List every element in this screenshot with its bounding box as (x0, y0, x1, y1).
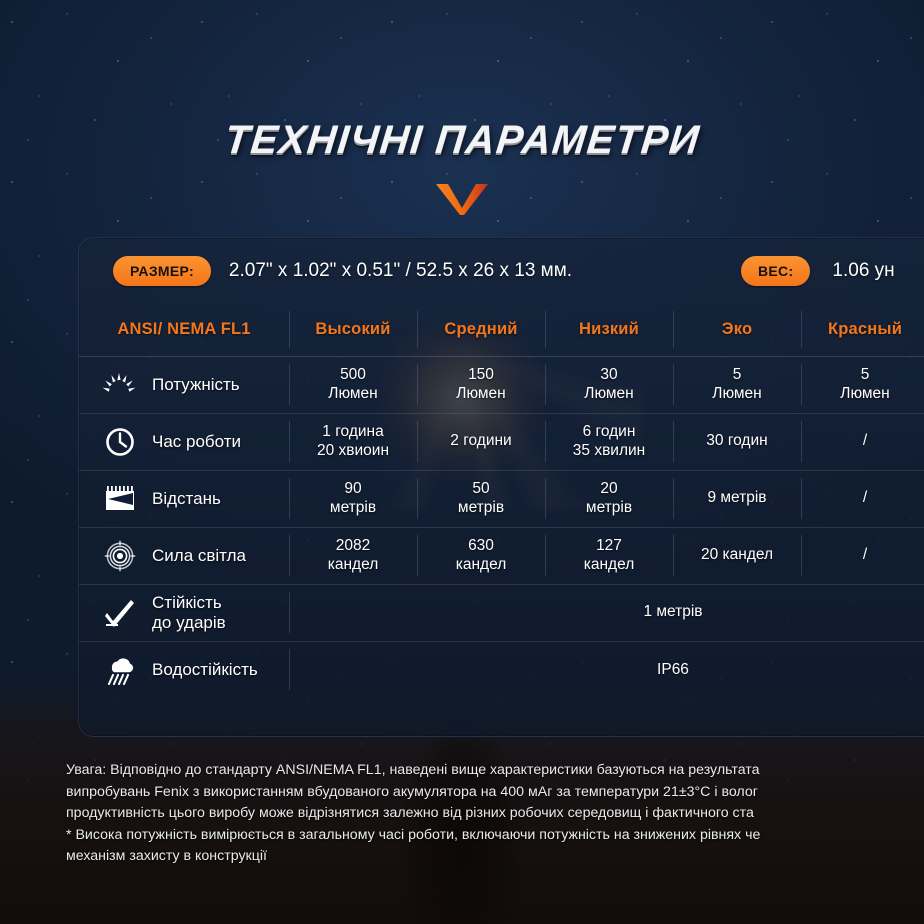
cell-runtime-red: / (801, 413, 924, 470)
col-header-eco: Эко (673, 304, 801, 356)
cell-impact-value: 1 метрів (289, 584, 924, 641)
table-header-row: ANSI/ NEMA FL1 Высокий Средний Низкий Эк… (79, 304, 924, 356)
cell-output-high: 500 Люмен (289, 356, 417, 413)
row-label-impact: Стійкість до ударів (79, 584, 289, 641)
weight-value: 1.06 ун (832, 260, 894, 282)
rain-cloud-icon (101, 652, 139, 688)
summary-row: РАЗМЕР: 2.07" x 1.02" x 0.51" / 52.5 x 2… (79, 238, 924, 304)
table-row: Стійкість до ударів 1 метрів (79, 584, 924, 641)
row-label-waterproof: Водостійкість (79, 641, 289, 698)
row-label-text: Стійкість до ударів (152, 593, 226, 631)
col-header-standard: ANSI/ NEMA FL1 (79, 304, 289, 356)
table-row: Потужність 500 Люмен 150 Люмен 30 Люмен (79, 356, 924, 413)
table-row: Водостійкість IP66 (79, 641, 924, 698)
cell-runtime-medium: 2 години (417, 413, 545, 470)
size-value: 2.07" x 1.02" x 0.51" / 52.5 x 26 x 13 м… (229, 260, 572, 282)
row-label-text: Потужність (152, 375, 240, 394)
sunburst-icon (101, 367, 139, 403)
cell-output-eco: 5 Люмен (673, 356, 801, 413)
beam-distance-icon (101, 481, 139, 517)
clock-icon (101, 424, 139, 460)
table-row: Сила світла 2082 кандел 630 кандел 127 к… (79, 527, 924, 584)
spec-sheet-page: ТЕХНІЧНІ ПАРАМЕТРИ РАЗМЕР: 2.07" x 1.02"… (0, 0, 924, 924)
footnote-text: Увага: Відповідно до стандарту ANSI/NEMA… (66, 760, 924, 868)
row-label-output: Потужність (79, 356, 289, 413)
col-header-medium: Средний (417, 304, 545, 356)
cell-waterproof-value: IP66 (289, 641, 924, 698)
cell-intensity-low: 127 кандел (545, 527, 673, 584)
specs-panel: РАЗМЕР: 2.07" x 1.02" x 0.51" / 52.5 x 2… (78, 237, 924, 737)
row-label-intensity: Сила світла (79, 527, 289, 584)
cell-distance-low: 20 метрів (545, 470, 673, 527)
specs-table-head: ANSI/ NEMA FL1 Высокий Средний Низкий Эк… (79, 304, 924, 356)
row-label-text: Відстань (152, 489, 221, 508)
cell-distance-eco: 9 метрів (673, 470, 801, 527)
row-label-runtime: Час роботи (79, 413, 289, 470)
page-title: ТЕХНІЧНІ ПАРАМЕТРИ (222, 118, 702, 163)
row-label-text: Водостійкість (152, 660, 258, 679)
col-header-red: Красный (801, 304, 924, 356)
specs-table-body: Потужність 500 Люмен 150 Люмен 30 Люмен (79, 356, 924, 698)
row-label-distance: Відстань (79, 470, 289, 527)
weight-badge: ВЕС: (741, 256, 810, 286)
col-header-high: Высокий (289, 304, 417, 356)
table-row: Відстань 90 метрів 50 метрів 20 метрів (79, 470, 924, 527)
row-label-text: Сила світла (152, 546, 246, 565)
cell-intensity-high: 2082 кандел (289, 527, 417, 584)
cell-distance-medium: 50 метрів (417, 470, 545, 527)
cell-distance-red: / (801, 470, 924, 527)
cell-intensity-eco: 20 кандел (673, 527, 801, 584)
cell-runtime-high: 1 година 20 хвиоин (289, 413, 417, 470)
chevron-down-icon (434, 182, 490, 221)
row-label-text: Час роботи (152, 432, 241, 451)
cell-output-low: 30 Люмен (545, 356, 673, 413)
target-icon (101, 538, 139, 574)
weight-group: ВЕС: 1.06 ун (741, 256, 895, 286)
cell-intensity-red: / (801, 527, 924, 584)
cell-output-medium: 150 Люмен (417, 356, 545, 413)
impact-check-icon (101, 595, 139, 631)
page-title-wrap: ТЕХНІЧНІ ПАРАМЕТРИ (0, 118, 924, 163)
col-header-low: Низкий (545, 304, 673, 356)
cell-distance-high: 90 метрів (289, 470, 417, 527)
specs-table: ANSI/ NEMA FL1 Высокий Средний Низкий Эк… (79, 304, 924, 698)
cell-intensity-medium: 630 кандел (417, 527, 545, 584)
table-row: Час роботи 1 година 20 хвиоин 2 години 6… (79, 413, 924, 470)
size-badge: РАЗМЕР: (113, 256, 211, 286)
cell-runtime-eco: 30 годин (673, 413, 801, 470)
cell-output-red: 5 Люмен (801, 356, 924, 413)
cell-runtime-low: 6 годин 35 хвилин (545, 413, 673, 470)
